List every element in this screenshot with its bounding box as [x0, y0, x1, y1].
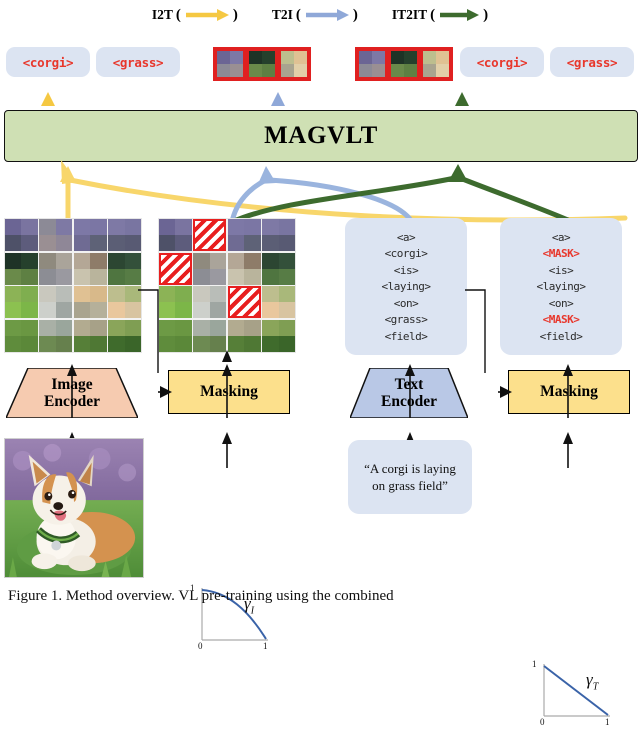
- patch-subpixel: [5, 269, 21, 285]
- legend-label-it2it: IT2IT: [392, 7, 427, 23]
- patch-subpixel: [262, 302, 278, 318]
- flow-arrows: [0, 158, 640, 226]
- arrow-head-t2i: [258, 166, 276, 184]
- image-patch: [39, 219, 72, 251]
- text-token: <corgi>: [385, 246, 428, 263]
- gamma-text-xtick-0: 0: [540, 717, 545, 727]
- gamma-text-ytick: 1: [532, 659, 537, 669]
- output-image-token-strip-center: [213, 47, 311, 81]
- image-patch: [193, 286, 226, 318]
- legend-paren-close: ): [233, 7, 238, 24]
- legend-label-t2i: T2I: [272, 7, 293, 23]
- patch-subpixel: [56, 302, 72, 318]
- patch-subpixel: [279, 235, 295, 251]
- gamma-text-xtick-1: 1: [605, 717, 610, 727]
- image-token-strip: [355, 47, 453, 81]
- token-subpixel: [281, 51, 294, 64]
- token-text: <corgi>: [23, 55, 74, 70]
- legend-item-i2t: I2T ( ): [152, 7, 238, 24]
- legend-arrow-t2i: [304, 8, 350, 22]
- image-token: [215, 49, 245, 79]
- image-patch-masked: [159, 253, 192, 285]
- token-subpixel: [404, 51, 417, 64]
- text-token: <is>: [394, 263, 419, 280]
- image-patch: [108, 253, 141, 285]
- patch-subpixel: [279, 302, 295, 318]
- token-subpixel: [217, 51, 230, 64]
- image-patch: [39, 320, 72, 352]
- output-token-corgi-left: <corgi>: [6, 47, 90, 77]
- patch-subpixel: [159, 219, 175, 235]
- patch-subpixel: [193, 269, 209, 285]
- text-token: <field>: [540, 329, 583, 346]
- patch-subpixel: [56, 235, 72, 251]
- patch-subpixel: [244, 253, 260, 269]
- patch-subpixel: [90, 235, 106, 251]
- text-token: <laying>: [537, 279, 586, 296]
- patch-subpixel: [21, 269, 37, 285]
- output-token-corgi-right: <corgi>: [460, 47, 544, 77]
- text-token: <grass>: [385, 312, 428, 329]
- image-patch-masked: [193, 219, 226, 251]
- token-subpixel: [404, 64, 417, 77]
- patch-subpixel: [56, 253, 72, 269]
- magvlt-label: MAGVLT: [264, 122, 378, 150]
- image-patch: [74, 286, 107, 318]
- patch-subpixel: [21, 320, 37, 336]
- image-patch: [228, 320, 261, 352]
- text-token-mask: <MASK>: [543, 312, 580, 329]
- patch-subpixel: [193, 286, 209, 302]
- arrow-type-legend: I2T ( ) T2I ( ) IT2IT ( ): [0, 2, 640, 28]
- output-token-grass-left: <grass>: [96, 47, 180, 77]
- token-subpixel: [281, 64, 294, 77]
- legend-paren-open: (: [296, 7, 301, 24]
- triangle-t2i: [271, 92, 285, 106]
- patch-subpixel: [193, 253, 209, 269]
- legend-paren-open: (: [176, 7, 181, 24]
- image-patch: [159, 219, 192, 251]
- patch-subpixel: [228, 235, 244, 251]
- patch-subpixel: [21, 253, 37, 269]
- image-patch: [39, 286, 72, 318]
- text-token: <laying>: [382, 279, 431, 296]
- patch-subpixel: [159, 235, 175, 251]
- image-token-grid-masked: [158, 218, 296, 353]
- patch-subpixel: [21, 235, 37, 251]
- gamma-text-plot: 1 0 1 γT: [528, 656, 632, 732]
- image-patch: [193, 320, 226, 352]
- patch-subpixel: [279, 253, 295, 269]
- legend-item-it2it: IT2IT ( ): [392, 7, 488, 24]
- patch-subpixel: [279, 286, 295, 302]
- patch-subpixel: [74, 320, 90, 336]
- patch-subpixel: [244, 320, 260, 336]
- token-subpixel: [423, 51, 436, 64]
- image-token: [357, 49, 387, 79]
- patch-subpixel: [262, 253, 278, 269]
- patch-subpixel: [39, 219, 55, 235]
- patch-subpixel: [244, 235, 260, 251]
- text-token-box-masked: <a><MASK><is><laying><on><MASK><field>: [500, 218, 622, 355]
- gamma-text-symbol: γT: [586, 670, 598, 692]
- image-patch: [5, 286, 38, 318]
- token-subpixel: [359, 64, 372, 77]
- patch-subpixel: [279, 320, 295, 336]
- image-token: [279, 49, 309, 79]
- patch-subpixel: [108, 235, 124, 251]
- patch-subpixel: [108, 320, 124, 336]
- patch-subpixel: [262, 320, 278, 336]
- corgi-photo: [4, 438, 144, 578]
- patch-subpixel: [125, 253, 141, 269]
- arrow-head-it2it: [448, 164, 468, 182]
- text-encoder-label: Text Encoder: [381, 376, 437, 410]
- caption-input-box: “A corgi is laying on grass field”: [348, 440, 472, 514]
- patch-subpixel: [74, 219, 90, 235]
- token-subpixel: [391, 51, 404, 64]
- image-token: [247, 49, 277, 79]
- patch-subpixel: [228, 253, 244, 269]
- token-subpixel: [294, 64, 307, 77]
- patch-subpixel: [210, 269, 226, 285]
- patch-subpixel: [39, 253, 55, 269]
- text-token: <on>: [549, 296, 574, 313]
- patch-subpixel: [21, 302, 37, 318]
- image-patch: [262, 320, 295, 352]
- token-subpixel: [249, 64, 262, 77]
- token-subpixel: [359, 51, 372, 64]
- image-patch: [5, 320, 38, 352]
- figure-caption: Figure 1. Method overview. VL pre-traini…: [8, 588, 632, 605]
- image-patch: [74, 253, 107, 285]
- patch-subpixel: [90, 253, 106, 269]
- legend-arrow-i2t: [184, 8, 230, 22]
- patch-subpixel: [90, 269, 106, 285]
- text-token: <is>: [549, 263, 574, 280]
- token-subpixel: [294, 51, 307, 64]
- patch-subpixel: [21, 219, 37, 235]
- text-token-box-clean: <a><corgi><is><laying><on><grass><field>: [345, 218, 467, 355]
- patch-subpixel: [210, 302, 226, 318]
- patch-subpixel: [228, 320, 244, 336]
- figure-caption-text: Figure 1. Method overview. VL pre-traini…: [8, 588, 394, 604]
- patch-subpixel: [210, 253, 226, 269]
- triangle-i2t: [41, 92, 55, 106]
- gamma-image-xtick-1: 1: [263, 641, 268, 651]
- output-pointer-triangles: [0, 78, 640, 108]
- image-patch-masked: [228, 286, 261, 318]
- image-patch: [74, 219, 107, 251]
- patch-subpixel: [39, 269, 55, 285]
- legend-paren-close: ): [353, 7, 358, 24]
- arrow-path-i2t: [70, 180, 625, 220]
- token-subpixel: [423, 64, 436, 77]
- patch-subpixel: [5, 302, 21, 318]
- text-token-mask: <MASK>: [543, 246, 580, 263]
- patch-subpixel: [74, 235, 90, 251]
- patch-subpixel: [108, 253, 124, 269]
- patch-subpixel: [74, 269, 90, 285]
- magvlt-model-block: MAGVLT: [4, 110, 638, 162]
- patch-subpixel: [56, 320, 72, 336]
- text-token: <a>: [397, 230, 415, 247]
- image-patch: [262, 253, 295, 285]
- patch-subpixel: [90, 219, 106, 235]
- patch-subpixel: [5, 219, 21, 235]
- patch-subpixel: [5, 320, 21, 336]
- image-patch: [262, 286, 295, 318]
- gamma-image-xtick-0: 0: [198, 641, 203, 651]
- triangle-it2it: [455, 92, 469, 106]
- image-token: [389, 49, 419, 79]
- patch-subpixel: [90, 302, 106, 318]
- patch-subpixel: [210, 286, 226, 302]
- patch-subpixel: [5, 235, 21, 251]
- image-token: [421, 49, 451, 79]
- patch-subpixel: [39, 320, 55, 336]
- image-patch: [5, 253, 38, 285]
- patch-subpixel: [244, 219, 260, 235]
- image-encoder-label: Image Encoder: [44, 376, 100, 410]
- text-token: <a>: [552, 230, 570, 247]
- token-text: <grass>: [113, 55, 164, 70]
- patch-subpixel: [5, 286, 21, 302]
- legend-item-t2i: T2I ( ): [272, 7, 358, 24]
- patch-subpixel: [74, 286, 90, 302]
- image-patch: [228, 253, 261, 285]
- token-text: <corgi>: [477, 55, 528, 70]
- image-token-strip: [213, 47, 311, 81]
- image-patch: [108, 320, 141, 352]
- token-subpixel: [436, 64, 449, 77]
- token-subpixel: [436, 51, 449, 64]
- patch-subpixel: [262, 235, 278, 251]
- patch-subpixel: [279, 219, 295, 235]
- patch-subpixel: [21, 286, 37, 302]
- image-patch: [39, 253, 72, 285]
- image-patch: [74, 320, 107, 352]
- token-subpixel: [249, 51, 262, 64]
- patch-subpixel: [56, 286, 72, 302]
- patch-subpixel: [39, 286, 55, 302]
- patch-subpixel: [228, 219, 244, 235]
- patch-subpixel: [56, 269, 72, 285]
- patch-subpixel: [244, 269, 260, 285]
- token-subpixel: [217, 64, 230, 77]
- patch-subpixel: [108, 302, 124, 318]
- patch-subpixel: [74, 302, 90, 318]
- patch-subpixel: [175, 302, 191, 318]
- token-subpixel: [262, 64, 275, 77]
- patch-subpixel: [125, 235, 141, 251]
- patch-subpixel: [56, 219, 72, 235]
- patch-subpixel: [108, 269, 124, 285]
- token-subpixel: [230, 64, 243, 77]
- text-token: <field>: [385, 329, 428, 346]
- patch-subpixel: [175, 320, 191, 336]
- token-subpixel: [262, 51, 275, 64]
- image-patch: [262, 219, 295, 251]
- corgi-photo-art: [5, 439, 143, 577]
- patch-subpixel: [125, 269, 141, 285]
- patch-subpixel: [39, 302, 55, 318]
- image-token-grid-clean: [4, 218, 142, 353]
- patch-subpixel: [193, 320, 209, 336]
- patch-subpixel: [210, 320, 226, 336]
- patch-subpixel: [262, 286, 278, 302]
- patch-subpixel: [125, 219, 141, 235]
- token-subpixel: [391, 64, 404, 77]
- patch-subpixel: [108, 286, 124, 302]
- output-image-token-strip-right: [355, 47, 453, 81]
- token-text: <grass>: [567, 55, 618, 70]
- legend-paren-close: ): [483, 7, 488, 24]
- patch-subpixel: [262, 269, 278, 285]
- legend-paren-open: (: [430, 7, 435, 24]
- arrow-path-it2it-b: [460, 178, 568, 220]
- token-subpixel: [230, 51, 243, 64]
- patch-subpixel: [175, 286, 191, 302]
- image-patch: [228, 219, 261, 251]
- text-token: <on>: [394, 296, 419, 313]
- patch-subpixel: [279, 269, 295, 285]
- patch-subpixel: [90, 320, 106, 336]
- patch-subpixel: [175, 235, 191, 251]
- patch-subpixel: [262, 219, 278, 235]
- patch-subpixel: [108, 219, 124, 235]
- patch-subpixel: [90, 286, 106, 302]
- patch-subpixel: [74, 253, 90, 269]
- legend-arrow-it2it: [438, 8, 480, 22]
- image-patch: [5, 219, 38, 251]
- legend-label-i2t: I2T: [152, 7, 173, 23]
- token-subpixel: [372, 64, 385, 77]
- token-subpixel: [372, 51, 385, 64]
- output-token-grass-right: <grass>: [550, 47, 634, 77]
- patch-subpixel: [175, 219, 191, 235]
- patch-subpixel: [39, 235, 55, 251]
- image-patch: [108, 219, 141, 251]
- caption-input-text: “A corgi is laying on grass field”: [356, 460, 464, 494]
- patch-subpixel: [228, 269, 244, 285]
- image-patch: [108, 286, 141, 318]
- patch-subpixel: [193, 302, 209, 318]
- image-patch: [193, 253, 226, 285]
- patch-subpixel: [5, 253, 21, 269]
